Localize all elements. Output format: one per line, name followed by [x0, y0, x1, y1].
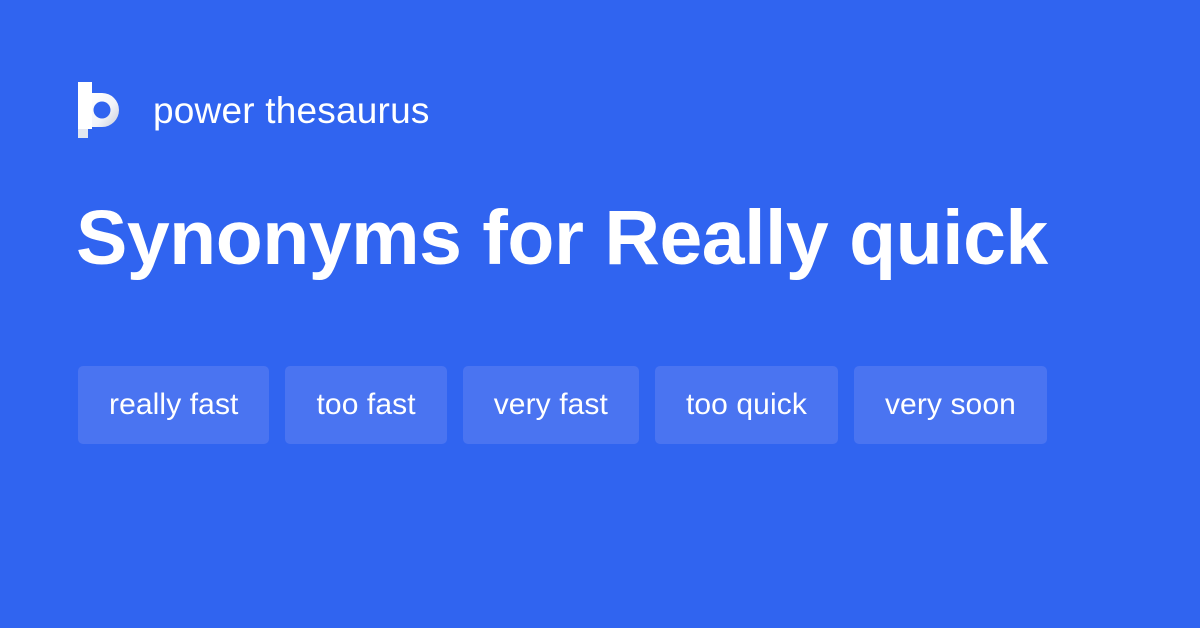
brand-name: power thesaurus: [153, 92, 430, 129]
synonym-chip-label: too quick: [686, 390, 807, 420]
synonym-chip-label: too fast: [316, 390, 415, 420]
page-title: Synonyms for Really quick: [76, 198, 1136, 280]
page-title-prefix: Synonyms for: [76, 195, 583, 281]
synonym-chip[interactable]: too fast: [285, 366, 446, 444]
synonym-chip[interactable]: very fast: [463, 366, 639, 444]
synonym-chip-label: really fast: [109, 390, 238, 420]
synonym-chip-label: very fast: [494, 390, 608, 420]
page-title-term: Really quick: [604, 195, 1047, 281]
synonym-chip[interactable]: very soon: [854, 366, 1047, 444]
power-thesaurus-b-logo-icon: [78, 82, 126, 138]
share-card: power thesaurus Synonyms for Really quic…: [0, 0, 1200, 628]
synonym-chip[interactable]: too quick: [655, 366, 838, 444]
brand-logo[interactable]: power thesaurus: [78, 80, 430, 140]
synonym-chip[interactable]: really fast: [78, 366, 269, 444]
synonym-list: really fasttoo fastvery fasttoo quickver…: [78, 366, 1138, 444]
synonym-chip-label: very soon: [885, 390, 1016, 420]
